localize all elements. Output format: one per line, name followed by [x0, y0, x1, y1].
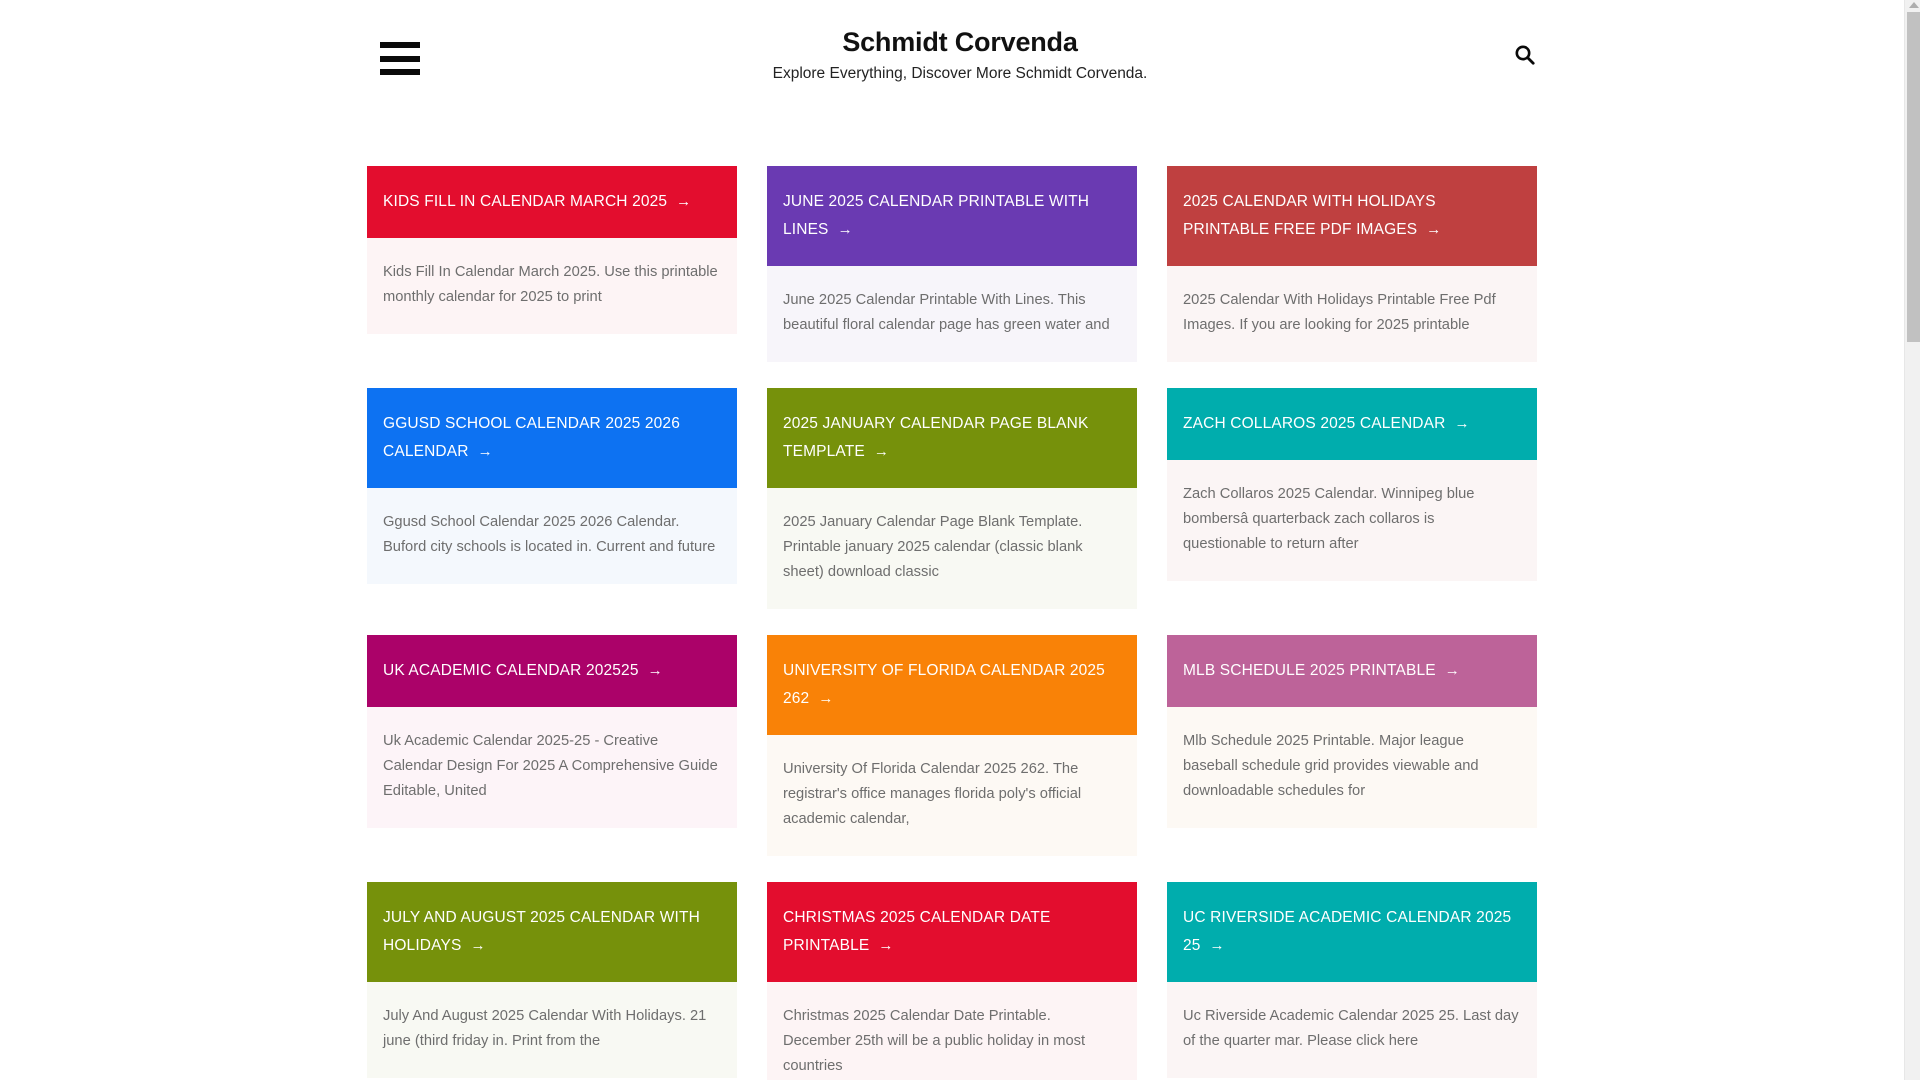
site-header: Schmidt Corvenda Explore Everything, Dis… — [0, 0, 1920, 110]
post-card-header[interactable]: MLB SCHEDULE 2025 PRINTABLE→ — [1167, 635, 1537, 707]
post-card-title-wrap: KIDS FILL IN CALENDAR MARCH 2025→ — [383, 188, 691, 216]
arrow-right-icon: → — [470, 937, 485, 954]
post-card-title-wrap: UNIVERSITY OF FLORIDA CALENDAR 2025 262→ — [783, 657, 1120, 713]
arrow-right-icon: → — [838, 221, 853, 238]
post-card[interactable]: UK ACADEMIC CALENDAR 202525→Uk Academic … — [367, 635, 737, 828]
site-title[interactable]: Schmidt Corvenda — [0, 26, 1920, 58]
post-card[interactable]: ZACH COLLAROS 2025 CALENDAR→Zach Collaro… — [1167, 388, 1537, 581]
post-card-body: June 2025 Calendar Printable With Lines.… — [767, 266, 1137, 362]
post-card[interactable]: UNIVERSITY OF FLORIDA CALENDAR 2025 262→… — [767, 635, 1137, 856]
post-card-title: ZACH COLLAROS 2025 CALENDAR — [1183, 415, 1445, 432]
arrow-right-icon: → — [478, 443, 493, 460]
page-root: Schmidt Corvenda Explore Everything, Dis… — [0, 0, 1920, 1080]
post-card-title: KIDS FILL IN CALENDAR MARCH 2025 — [383, 193, 667, 210]
brand: Schmidt Corvenda Explore Everything, Dis… — [0, 26, 1920, 84]
site-tagline: Explore Everything, Discover More Schmid… — [0, 64, 1920, 84]
scrollbar-up-arrow-icon[interactable] — [1909, 2, 1919, 8]
post-card-grid: KIDS FILL IN CALENDAR MARCH 2025→Kids Fi… — [367, 110, 1519, 1080]
post-card-excerpt: Kids Fill In Calendar March 2025. Use th… — [383, 260, 720, 310]
post-card-excerpt: Christmas 2025 Calendar Date Printable. … — [783, 1004, 1120, 1079]
post-card-header[interactable]: JULY AND AUGUST 2025 CALENDAR WITH HOLID… — [367, 882, 737, 982]
post-card-header[interactable]: CHRISTMAS 2025 CALENDAR DATE PRINTABLE→ — [767, 882, 1137, 982]
post-card-body: 2025 January Calendar Page Blank Templat… — [767, 488, 1137, 609]
post-card-title-wrap: ZACH COLLAROS 2025 CALENDAR→ — [1183, 410, 1469, 438]
post-card-header[interactable]: 2025 CALENDAR WITH HOLIDAYS PRINTABLE FR… — [1167, 166, 1537, 266]
vertical-scrollbar[interactable] — [1904, 0, 1920, 1080]
post-card[interactable]: CHRISTMAS 2025 CALENDAR DATE PRINTABLE→C… — [767, 882, 1137, 1080]
post-card[interactable]: JULY AND AUGUST 2025 CALENDAR WITH HOLID… — [367, 882, 737, 1078]
post-card-body: Zach Collaros 2025 Calendar. Winnipeg bl… — [1167, 460, 1537, 581]
post-card-excerpt: Mlb Schedule 2025 Printable. Major leagu… — [1183, 729, 1520, 804]
hamburger-bar-3 — [380, 69, 420, 75]
arrow-right-icon: → — [1426, 221, 1441, 238]
post-card-title-wrap: MLB SCHEDULE 2025 PRINTABLE→ — [1183, 657, 1460, 685]
post-card-title-wrap: CHRISTMAS 2025 CALENDAR DATE PRINTABLE→ — [783, 904, 1120, 960]
arrow-right-icon: → — [648, 662, 663, 679]
post-card-header[interactable]: KIDS FILL IN CALENDAR MARCH 2025→ — [367, 166, 737, 238]
post-card-title: GGUSD SCHOOL CALENDAR 2025 2026 CALENDAR — [383, 415, 680, 460]
arrow-right-icon: → — [818, 690, 833, 707]
post-card-excerpt: Uk Academic Calendar 2025-25 - Creative … — [383, 729, 720, 804]
post-card-body: Uk Academic Calendar 2025-25 - Creative … — [367, 707, 737, 828]
post-card[interactable]: 2025 JANUARY CALENDAR PAGE BLANK TEMPLAT… — [767, 388, 1137, 609]
arrow-right-icon: → — [676, 193, 691, 210]
post-card-title: JUNE 2025 CALENDAR PRINTABLE WITH LINES — [783, 193, 1089, 238]
post-card-title: CHRISTMAS 2025 CALENDAR DATE PRINTABLE — [783, 909, 1050, 954]
post-card-title-wrap: UC RIVERSIDE ACADEMIC CALENDAR 2025 25→ — [1183, 904, 1520, 960]
post-card-header[interactable]: 2025 JANUARY CALENDAR PAGE BLANK TEMPLAT… — [767, 388, 1137, 488]
post-card-title: UK ACADEMIC CALENDAR 202525 — [383, 662, 639, 679]
post-card-body: Uc Riverside Academic Calendar 2025 25. … — [1167, 982, 1537, 1078]
scrollbar-thumb[interactable] — [1907, 12, 1920, 342]
post-card-header[interactable]: ZACH COLLAROS 2025 CALENDAR→ — [1167, 388, 1537, 460]
post-card-title-wrap: GGUSD SCHOOL CALENDAR 2025 2026 CALENDAR… — [383, 410, 720, 466]
post-card[interactable]: JUNE 2025 CALENDAR PRINTABLE WITH LINES→… — [767, 166, 1137, 362]
post-card-body: Christmas 2025 Calendar Date Printable. … — [767, 982, 1137, 1080]
post-card-excerpt: Ggusd School Calendar 2025 2026 Calendar… — [383, 510, 720, 560]
post-card-header[interactable]: UNIVERSITY OF FLORIDA CALENDAR 2025 262→ — [767, 635, 1137, 735]
post-card-title-wrap: 2025 JANUARY CALENDAR PAGE BLANK TEMPLAT… — [783, 410, 1120, 466]
post-card-body: Mlb Schedule 2025 Printable. Major leagu… — [1167, 707, 1537, 828]
post-card-body: Ggusd School Calendar 2025 2026 Calendar… — [367, 488, 737, 584]
post-card-header[interactable]: UC RIVERSIDE ACADEMIC CALENDAR 2025 25→ — [1167, 882, 1537, 982]
post-card-title-wrap: 2025 CALENDAR WITH HOLIDAYS PRINTABLE FR… — [1183, 188, 1520, 244]
post-card-header[interactable]: JUNE 2025 CALENDAR PRINTABLE WITH LINES→ — [767, 166, 1137, 266]
post-card-excerpt: Uc Riverside Academic Calendar 2025 25. … — [1183, 1004, 1520, 1054]
post-card-excerpt: 2025 Calendar With Holidays Printable Fr… — [1183, 288, 1520, 338]
post-card-title: 2025 CALENDAR WITH HOLIDAYS PRINTABLE FR… — [1183, 193, 1436, 238]
arrow-right-icon: → — [1454, 415, 1469, 432]
arrow-right-icon: → — [878, 937, 893, 954]
post-card[interactable]: GGUSD SCHOOL CALENDAR 2025 2026 CALENDAR… — [367, 388, 737, 584]
post-card-body: 2025 Calendar With Holidays Printable Fr… — [1167, 266, 1537, 362]
post-card-title: 2025 JANUARY CALENDAR PAGE BLANK TEMPLAT… — [783, 415, 1088, 460]
post-card-header[interactable]: UK ACADEMIC CALENDAR 202525→ — [367, 635, 737, 707]
post-card[interactable]: KIDS FILL IN CALENDAR MARCH 2025→Kids Fi… — [367, 166, 737, 334]
arrow-right-icon: → — [1210, 937, 1225, 954]
post-card-title-wrap: UK ACADEMIC CALENDAR 202525→ — [383, 657, 663, 685]
arrow-right-icon: → — [874, 443, 889, 460]
search-icon[interactable] — [1508, 38, 1542, 72]
post-card-title: JULY AND AUGUST 2025 CALENDAR WITH HOLID… — [383, 909, 700, 954]
post-card-excerpt: Zach Collaros 2025 Calendar. Winnipeg bl… — [1183, 482, 1520, 557]
post-card[interactable]: MLB SCHEDULE 2025 PRINTABLE→Mlb Schedule… — [1167, 635, 1537, 828]
post-card[interactable]: 2025 CALENDAR WITH HOLIDAYS PRINTABLE FR… — [1167, 166, 1537, 362]
arrow-right-icon: → — [1445, 662, 1460, 679]
post-card-header[interactable]: GGUSD SCHOOL CALENDAR 2025 2026 CALENDAR… — [367, 388, 737, 488]
post-card-title-wrap: JUNE 2025 CALENDAR PRINTABLE WITH LINES→ — [783, 188, 1120, 244]
post-card-excerpt: University Of Florida Calendar 2025 262.… — [783, 757, 1120, 832]
post-card-body: University Of Florida Calendar 2025 262.… — [767, 735, 1137, 856]
post-card[interactable]: UC RIVERSIDE ACADEMIC CALENDAR 2025 25→U… — [1167, 882, 1537, 1078]
post-card-excerpt: July And August 2025 Calendar With Holid… — [383, 1004, 720, 1054]
post-card-excerpt: June 2025 Calendar Printable With Lines.… — [783, 288, 1120, 338]
post-card-body: Kids Fill In Calendar March 2025. Use th… — [367, 238, 737, 334]
post-card-title: UC RIVERSIDE ACADEMIC CALENDAR 2025 25 — [1183, 909, 1511, 954]
post-card-title: MLB SCHEDULE 2025 PRINTABLE — [1183, 662, 1436, 679]
post-card-body: July And August 2025 Calendar With Holid… — [367, 982, 737, 1078]
post-card-excerpt: 2025 January Calendar Page Blank Templat… — [783, 510, 1120, 585]
post-card-title-wrap: JULY AND AUGUST 2025 CALENDAR WITH HOLID… — [383, 904, 720, 960]
